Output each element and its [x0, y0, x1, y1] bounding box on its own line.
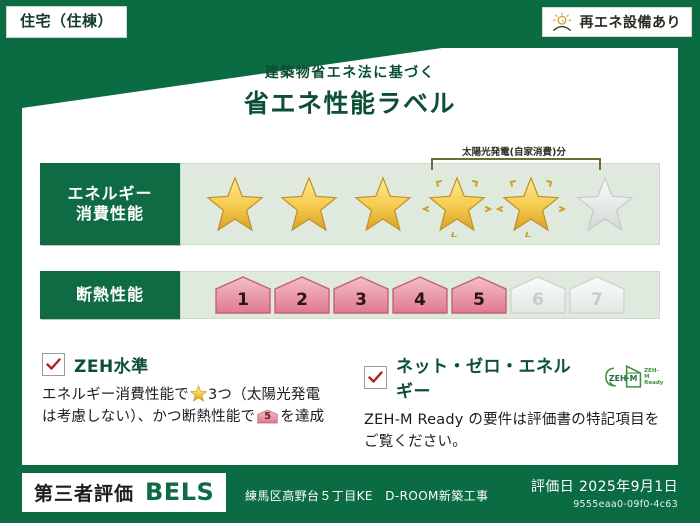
house-level-number: 5 — [257, 409, 278, 424]
evaluation-date: 評価日 2025年9月1日 — [531, 476, 678, 496]
check-icon — [368, 371, 383, 384]
insulation-level-2: 2 — [273, 275, 331, 315]
energy-star-1 — [200, 171, 270, 237]
insulation-level-2-number: 2 — [296, 290, 308, 315]
energy-star-6-empty — [570, 171, 640, 237]
check-icon — [46, 358, 61, 371]
net-zero-checkbox[interactable] — [364, 366, 387, 389]
energy-label-line1: エネルギー — [67, 184, 152, 204]
insulation-level-5-number: 5 — [473, 290, 485, 315]
energy-performance-row: エネルギー 消費性能 太陽光発電(自家消費)分 — [40, 163, 660, 245]
net-zero-header: ネット・ゼロ・エネルギー ZEH·M ZEH-M Ready — [364, 352, 664, 402]
evaluation-meta: 評価日 2025年9月1日 9555eaa0-09f0-4c63 — [531, 476, 678, 510]
net-zero-title: ネット・ゼロ・エネルギー — [396, 352, 588, 402]
insulation-level-3-number: 3 — [355, 290, 367, 315]
renewable-badge-label: 再エネ設備あり — [580, 12, 682, 32]
zeh-standard-block: ZEH水準 エネルギー消費性能で3つ（太陽光発電 は考慮しない）、かつ断熱性能で… — [42, 352, 342, 428]
insulation-performance-row: 断熱性能 1 2 3 4 5 6 — [40, 271, 660, 319]
insulation-level-4-number: 4 — [414, 290, 426, 315]
energy-label-line2: 消費性能 — [76, 204, 144, 224]
zeh-checkbox[interactable] — [42, 353, 65, 376]
net-zero-body: ZEH-M Ready の要件は評価書の特記項目をご覧ください。 — [364, 409, 664, 453]
energy-star-2 — [274, 171, 344, 237]
insulation-level-6-number: 6 — [532, 290, 544, 315]
zeh-standard-body: エネルギー消費性能で3つ（太陽光発電 は考慮しない）、かつ断熱性能で5を達成 — [42, 384, 342, 428]
building-type-tab: 住宅（住棟） — [6, 6, 127, 38]
bels-en-label: BELS — [145, 478, 214, 506]
label-footer: 第三者評価 BELS 練馬区高野台５丁目KE D-ROOM新築工事 評価日 20… — [0, 465, 700, 523]
label-subtitle: 建築物省エネ法に基づく — [0, 62, 700, 82]
zeh-m-logo-sub1: ZEH-M — [644, 368, 659, 380]
star-icon — [190, 385, 207, 402]
zeh-standard-header: ZEH水準 — [42, 352, 342, 377]
svg-text:ZEH·M: ZEH·M — [609, 374, 638, 383]
label-title: 省エネ性能ラベル — [0, 84, 700, 120]
solar-annotation-bracket — [431, 158, 601, 170]
bels-energy-label: 住宅（住棟） 再エネ設備あり 建築物省エネ法に基づく 省エネ性能ラベル エネルギ… — [0, 0, 700, 523]
bels-certification-mark: 第三者評価 BELS — [22, 473, 226, 512]
zeh-standard-title: ZEH水準 — [74, 352, 149, 377]
insulation-level-6: 6 — [509, 275, 567, 315]
energy-star-5-solar — [496, 171, 566, 237]
property-address: 練馬区高野台５丁目KE D-ROOM新築工事 — [245, 487, 488, 504]
insulation-level-1-number: 1 — [237, 290, 249, 315]
insulation-level-3: 3 — [332, 275, 390, 315]
zeh-body-star-count: 3つ（太陽光発電 — [208, 387, 320, 403]
zeh-body-part2: は考慮しない）、かつ断熱性能で — [42, 409, 255, 425]
zeh-m-logo-sub2: Ready — [644, 380, 663, 386]
energy-star-4-solar — [422, 171, 492, 237]
sun-icon — [551, 12, 573, 32]
insulation-level-4: 4 — [391, 275, 449, 315]
solar-annotation-text: 太陽光発電(自家消費)分 — [427, 144, 601, 158]
house-level-icon: 5 — [257, 408, 278, 425]
renewable-equipment-badge: 再エネ設備あり — [542, 7, 693, 37]
energy-stars-band: 太陽光発電(自家消費)分 — [180, 163, 660, 245]
insulation-level-5: 5 — [450, 275, 508, 315]
net-zero-energy-block: ネット・ゼロ・エネルギー ZEH·M ZEH-M Ready ZEH-M Rea… — [364, 352, 664, 453]
bels-jp-label: 第三者評価 — [34, 479, 134, 506]
zeh-body-part1: エネルギー消費性能で — [42, 387, 189, 403]
zeh-m-logo: ZEH·M ZEH-M Ready — [601, 363, 664, 391]
insulation-level-1: 1 — [214, 275, 272, 315]
insulation-level-7-number: 7 — [591, 290, 603, 315]
insulation-level-7: 7 — [568, 275, 626, 315]
energy-star-3 — [348, 171, 418, 237]
document-id: 9555eaa0-09f0-4c63 — [531, 499, 678, 510]
insulation-performance-label: 断熱性能 — [40, 271, 180, 319]
energy-performance-label: エネルギー 消費性能 — [40, 163, 180, 245]
insulation-levels-band: 1 2 3 4 5 6 7 — [180, 271, 660, 319]
zeh-body-part3: を達成 — [280, 409, 324, 425]
